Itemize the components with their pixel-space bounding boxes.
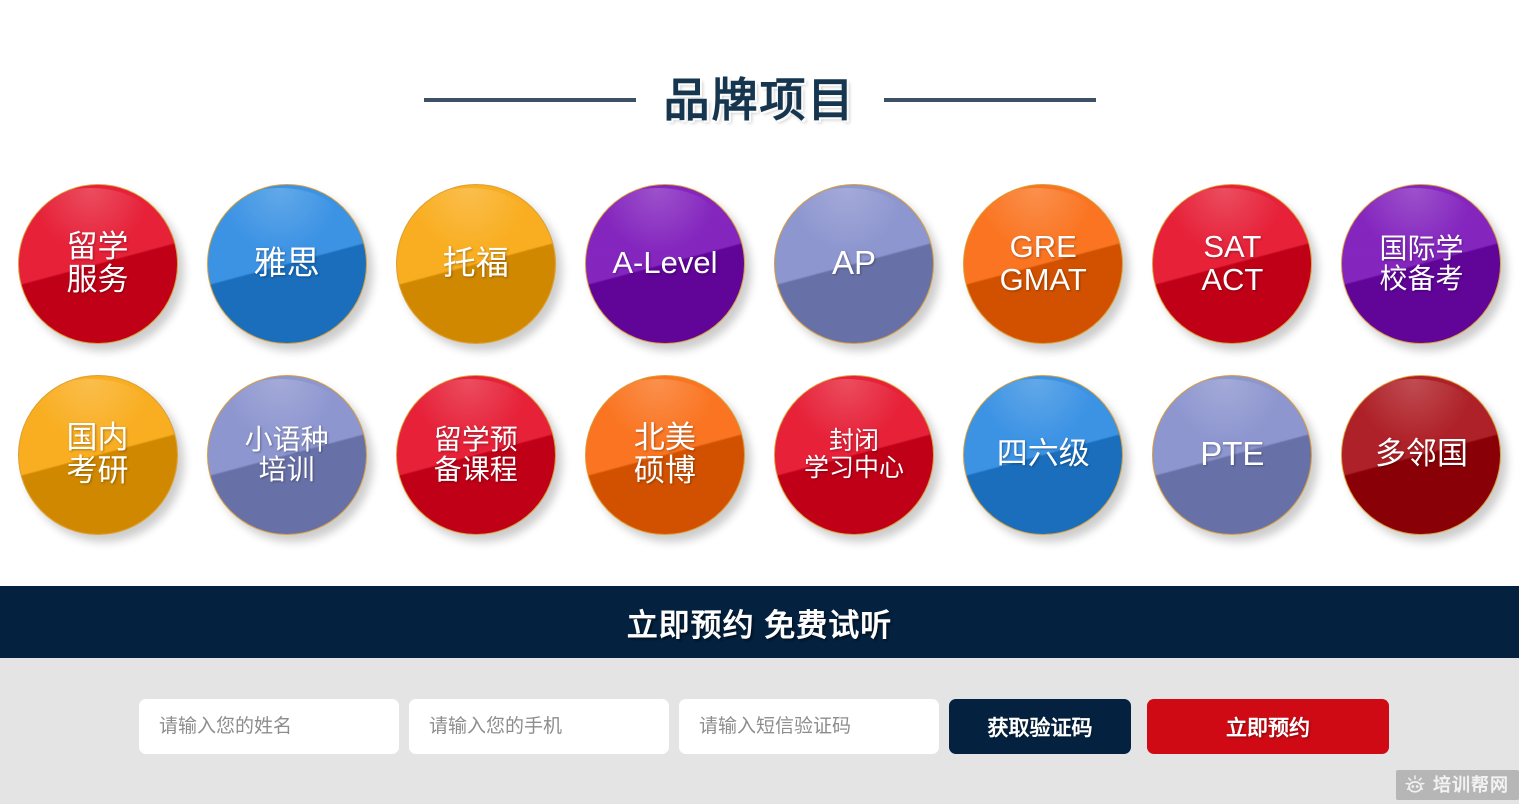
program-circle-liuxue-fuwu[interactable]: 留学 服务 [18,184,178,344]
program-label: 雅思 [248,246,326,281]
name-input[interactable] [139,699,399,754]
program-label: 北美 硕博 [628,422,702,488]
sun-eye-icon [1404,774,1426,796]
program-cell: 留学 服务 [10,183,185,344]
program-cell: 多邻国 [1334,374,1509,535]
program-circle-duolingo[interactable]: 多邻国 [1341,375,1501,535]
program-cell: 国内 考研 [10,374,185,535]
program-label: 国际学 校备考 [1373,234,1469,293]
program-circle-minor-languages[interactable]: 小语种 培训 [207,375,367,535]
program-row-2: 国内 考研 小语种 培训 留学预 备课程 北美 硕博 封闭 学习中心 四六级 P… [0,374,1519,535]
program-cell: 托福 [388,183,563,344]
program-cell: AP [767,183,942,344]
program-label: 四六级 [991,438,1096,471]
brand-programs-page: 品牌项目 留学 服务 雅思 托福 A-Level AP GRE GMAT SAT… [0,0,1519,804]
sms-code-input[interactable] [679,699,939,754]
program-cell: 小语种 培训 [199,374,374,535]
program-circle-study-abroad-prep-course[interactable]: 留学预 备课程 [396,375,556,535]
program-circle-domestic-postgrad[interactable]: 国内 考研 [18,375,178,535]
watermark-text: 培训帮网 [1433,776,1509,794]
program-cell: 雅思 [199,183,374,344]
program-circle-cet-4-6[interactable]: 四六级 [963,375,1123,535]
program-label: 国内 考研 [61,422,135,488]
site-watermark: 培训帮网 [1396,770,1519,800]
program-cell: A-Level [577,183,752,344]
program-label: 留学 服务 [61,231,135,297]
program-cell: 封闭 学习中心 [767,374,942,535]
program-circle-toefl[interactable]: 托福 [396,184,556,344]
phone-input[interactable] [409,699,669,754]
program-circle-sat-act[interactable]: SAT ACT [1152,184,1312,344]
page-title: 品牌项目 [664,77,856,123]
cta-title: 立即预约 免费试听 [627,600,893,645]
program-circle-international-school-prep[interactable]: 国际学 校备考 [1341,184,1501,344]
booking-form: 获取验证码 立即预约 [139,699,1389,754]
program-label: 留学预 备课程 [428,425,524,484]
program-cell: 北美 硕博 [577,374,752,535]
program-circle-ielts[interactable]: 雅思 [207,184,367,344]
program-cell: 留学预 备课程 [388,374,563,535]
program-row-1: 留学 服务 雅思 托福 A-Level AP GRE GMAT SAT ACT … [0,183,1519,344]
program-grid: 留学 服务 雅思 托福 A-Level AP GRE GMAT SAT ACT … [0,183,1519,535]
program-cell: 国际学 校备考 [1334,183,1509,344]
program-label: A-Level [606,247,723,280]
program-cell: SAT ACT [1145,183,1320,344]
program-label: 多邻国 [1369,438,1474,471]
program-cell: 四六级 [956,374,1131,535]
program-label: GRE GMAT [994,231,1093,297]
program-label: 封闭 学习中心 [798,428,910,481]
cta-banner: 立即预约 免费试听 [0,586,1519,658]
submit-booking-button[interactable]: 立即预约 [1147,699,1389,754]
title-rule-right [884,98,1096,102]
title-rule-left [424,98,636,102]
program-label: 小语种 培训 [239,425,335,484]
program-label: AP [826,246,882,281]
program-circle-gre-gmat[interactable]: GRE GMAT [963,184,1123,344]
program-circle-closed-study-center[interactable]: 封闭 学习中心 [774,375,934,535]
program-circle-north-america-masters-phd[interactable]: 北美 硕博 [585,375,745,535]
program-circle-ap[interactable]: AP [774,184,934,344]
program-cell: PTE [1145,374,1320,535]
booking-form-strip: 获取验证码 立即预约 [0,658,1519,804]
program-cell: GRE GMAT [956,183,1131,344]
program-label: PTE [1194,437,1270,472]
program-circle-pte[interactable]: PTE [1152,375,1312,535]
program-label: 托福 [437,246,515,281]
get-verification-code-button[interactable]: 获取验证码 [949,699,1131,754]
program-circle-a-level[interactable]: A-Level [585,184,745,344]
section-header: 品牌项目 [0,62,1519,138]
program-label: SAT ACT [1195,231,1269,297]
